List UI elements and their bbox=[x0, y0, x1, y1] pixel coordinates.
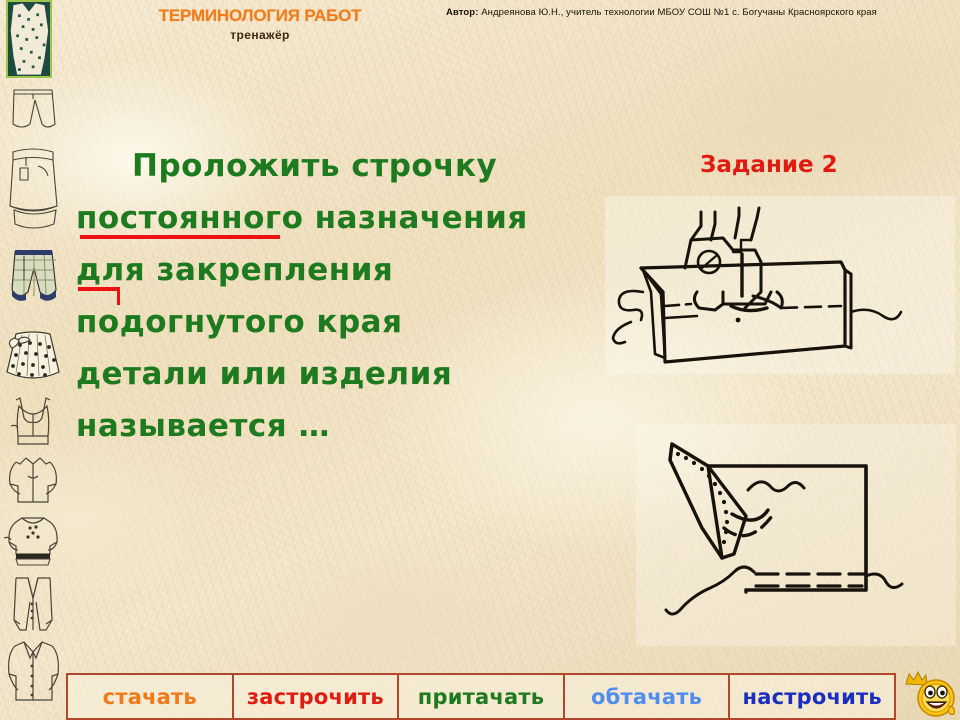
red-emphasis-underline bbox=[80, 235, 280, 239]
answer-options-bar: стачать застрочить притачать обтачать на… bbox=[66, 673, 896, 720]
sewing-machine-hemming-diagram bbox=[605, 196, 955, 374]
red-emphasis-bracket bbox=[78, 287, 120, 305]
author-label: Автор: bbox=[446, 7, 478, 18]
plaid-pants-sketch bbox=[2, 240, 64, 320]
collared-shirt-sketch bbox=[2, 452, 64, 514]
answer-label: стачать bbox=[103, 685, 197, 709]
answer-option-zastrochit[interactable]: застрочить bbox=[234, 675, 400, 718]
page-subtitle: тренажёр bbox=[110, 28, 410, 42]
answer-option-stachat[interactable]: стачать bbox=[68, 675, 234, 718]
blouse-with-bow-sketch bbox=[2, 512, 64, 574]
question-line-5: детали или изделия bbox=[76, 348, 606, 400]
skirt-with-belt-sketch bbox=[2, 144, 64, 230]
polka-dot-skirt-sketch bbox=[2, 326, 64, 388]
garment-illustration-strip bbox=[0, 0, 66, 720]
question-line-1: Проложить строчку bbox=[76, 140, 606, 192]
answer-label: притачать bbox=[418, 685, 544, 709]
page-title: ТЕРМИНОЛОГИЯ РАБОТ bbox=[110, 6, 410, 26]
answer-label: настрочить bbox=[743, 685, 882, 709]
question-line-4: подогнутого края bbox=[76, 296, 606, 348]
answer-label: обтачать bbox=[591, 685, 702, 709]
answer-option-nastrochit[interactable]: настрочить bbox=[730, 675, 894, 718]
folded-hem-stitch-diagram bbox=[636, 424, 956, 646]
question-line-3: для закрепления bbox=[76, 244, 606, 296]
author-credit: Автор: Андреянова Ю.Н., учитель технолог… bbox=[446, 7, 954, 18]
answer-label: застрочить bbox=[247, 685, 384, 709]
slide-canvas: ТЕРМИНОЛОГИЯ РАБОТ тренажёр Автор: Андре… bbox=[0, 0, 960, 720]
presentation-title-block: ТЕРМИНОЛОГИЯ РАБОТ тренажёр bbox=[110, 6, 410, 42]
vest-sketch bbox=[2, 572, 64, 638]
dress-photo-thumbnail bbox=[6, 0, 52, 78]
question-line-6: называется … bbox=[76, 400, 606, 452]
bustier-top-sketch bbox=[2, 392, 64, 454]
task-number-label: Задание 2 bbox=[700, 152, 838, 178]
author-name: Андреянова Ю.Н., учитель технологии МБОУ… bbox=[481, 7, 877, 18]
answer-option-obtachat[interactable]: обтачать bbox=[565, 675, 731, 718]
shorts-sketch bbox=[2, 84, 64, 146]
crowned-smiley-icon[interactable] bbox=[900, 668, 956, 720]
jacket-sketch bbox=[2, 636, 64, 710]
answer-option-pritachat[interactable]: притачать bbox=[399, 675, 565, 718]
question-text-block: Проложить строчку постоянного назначения… bbox=[76, 140, 606, 452]
